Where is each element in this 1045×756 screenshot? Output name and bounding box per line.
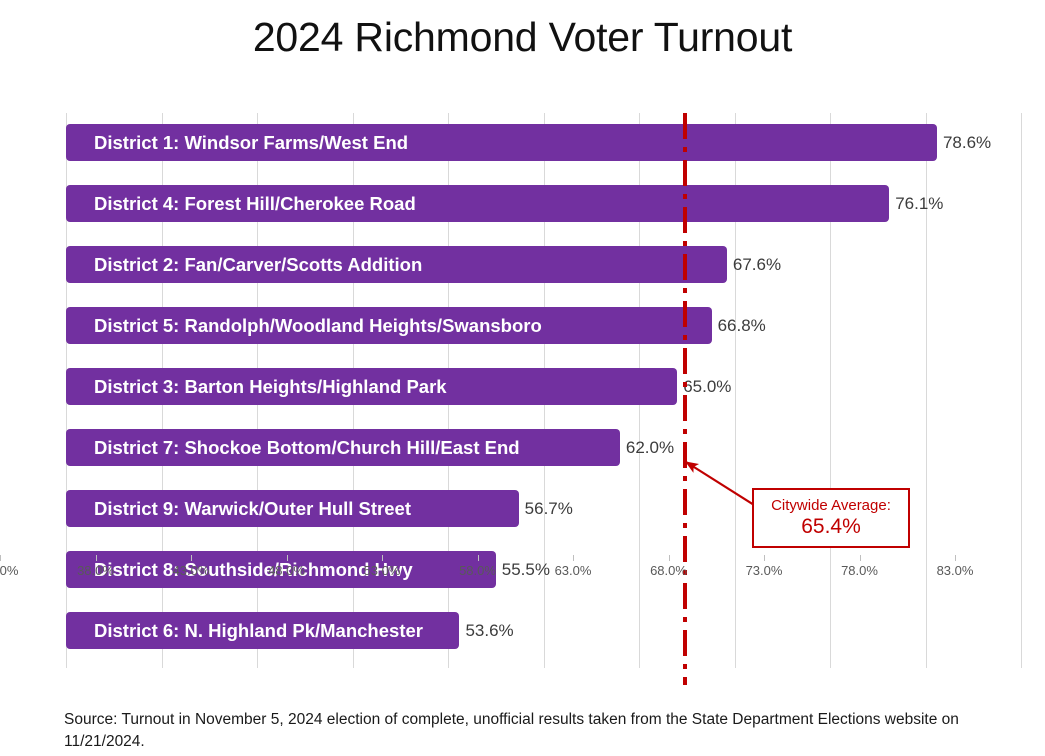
source-note: Source: Turnout in November 5, 2024 elec… (64, 709, 964, 754)
bar-category-label: District 3: Barton Heights/Highland Park (66, 376, 447, 398)
bar: District 4: Forest Hill/Cherokee Road (66, 185, 889, 222)
x-tick-mark (96, 555, 97, 561)
x-tick-mark (478, 555, 479, 561)
x-tick-mark (669, 555, 670, 561)
bar-value-label: 76.1% (895, 194, 943, 214)
chart-root: 2024 Richmond Voter Turnout District 1: … (0, 0, 1045, 756)
x-tick-label: 38.0% (77, 563, 114, 578)
x-tick-mark (287, 555, 288, 561)
x-tick-label: 48.0% (268, 563, 305, 578)
x-tick-label: 58.0% (459, 563, 496, 578)
bar-category-label: District 7: Shockoe Bottom/Church Hill/E… (66, 437, 520, 459)
bar-value-label: 67.6% (733, 255, 781, 275)
bar-category-label: District 4: Forest Hill/Cherokee Road (66, 193, 416, 215)
bar-value-label: 62.0% (626, 438, 674, 458)
bar-row: District 5: Randolph/Woodland Heights/Sw… (66, 307, 1021, 344)
x-tick-label: 63.0% (555, 563, 592, 578)
source-line-1: Source: Turnout in November 5, 2024 elec… (64, 711, 813, 728)
bar-row: District 3: Barton Heights/Highland Park… (66, 368, 1021, 405)
bar-row: District 6: N. Highland Pk/Manchester53.… (66, 612, 1021, 649)
bar-value-label: 65.0% (683, 377, 731, 397)
callout-title: Citywide Average: (771, 497, 891, 514)
bar: District 2: Fan/Carver/Scotts Addition (66, 246, 727, 283)
page-title: 2024 Richmond Voter Turnout (0, 14, 1045, 61)
bar-row: District 4: Forest Hill/Cherokee Road76.… (66, 185, 1021, 222)
bar: District 3: Barton Heights/Highland Park (66, 368, 677, 405)
bar-value-label: 56.7% (525, 499, 573, 519)
x-tick-mark (191, 555, 192, 561)
x-tick-mark (573, 555, 574, 561)
bar: District 7: Shockoe Bottom/Church Hill/E… (66, 429, 620, 466)
x-tick-label: 53.0% (364, 563, 401, 578)
bar-category-label: District 1: Windsor Farms/West End (66, 132, 408, 154)
bar: District 9: Warwick/Outer Hull Street (66, 490, 519, 527)
gridline (1021, 113, 1022, 668)
x-tick-label: 83.0% (937, 563, 974, 578)
bar-category-label: District 6: N. Highland Pk/Manchester (66, 620, 423, 642)
bar-value-label: 78.6% (943, 133, 991, 153)
bar: District 1: Windsor Farms/West End (66, 124, 937, 161)
bar: District 5: Randolph/Woodland Heights/Sw… (66, 307, 712, 344)
x-tick-mark (0, 555, 1, 561)
citywide-average-callout: Citywide Average: 65.4% (752, 488, 910, 548)
bar: District 6: N. Highland Pk/Manchester (66, 612, 459, 649)
bar-value-label: 66.8% (718, 316, 766, 336)
bar-category-label: District 2: Fan/Carver/Scotts Addition (66, 254, 422, 276)
x-tick-label: 43.0% (173, 563, 210, 578)
callout-value: 65.4% (801, 515, 861, 539)
bar-category-label: District 9: Warwick/Outer Hull Street (66, 498, 411, 520)
x-tick-label: 78.0% (841, 563, 878, 578)
bar-row: District 1: Windsor Farms/West End78.6% (66, 124, 1021, 161)
bar-row: District 7: Shockoe Bottom/Church Hill/E… (66, 429, 1021, 466)
x-tick-label: 33.0% (0, 563, 18, 578)
bar-row: District 2: Fan/Carver/Scotts Addition67… (66, 246, 1021, 283)
x-tick-mark (382, 555, 383, 561)
x-tick-mark (764, 555, 765, 561)
citywide-average-reference-line (683, 113, 687, 685)
x-tick-mark (955, 555, 956, 561)
x-tick-label: 73.0% (746, 563, 783, 578)
bar-value-label: 53.6% (465, 621, 513, 641)
x-tick-mark (860, 555, 861, 561)
x-axis: 33.0%38.0%43.0%48.0%53.0%58.0%63.0%68.0%… (0, 555, 955, 585)
x-tick-label: 68.0% (650, 563, 687, 578)
bar-category-label: District 5: Randolph/Woodland Heights/Sw… (66, 315, 542, 337)
